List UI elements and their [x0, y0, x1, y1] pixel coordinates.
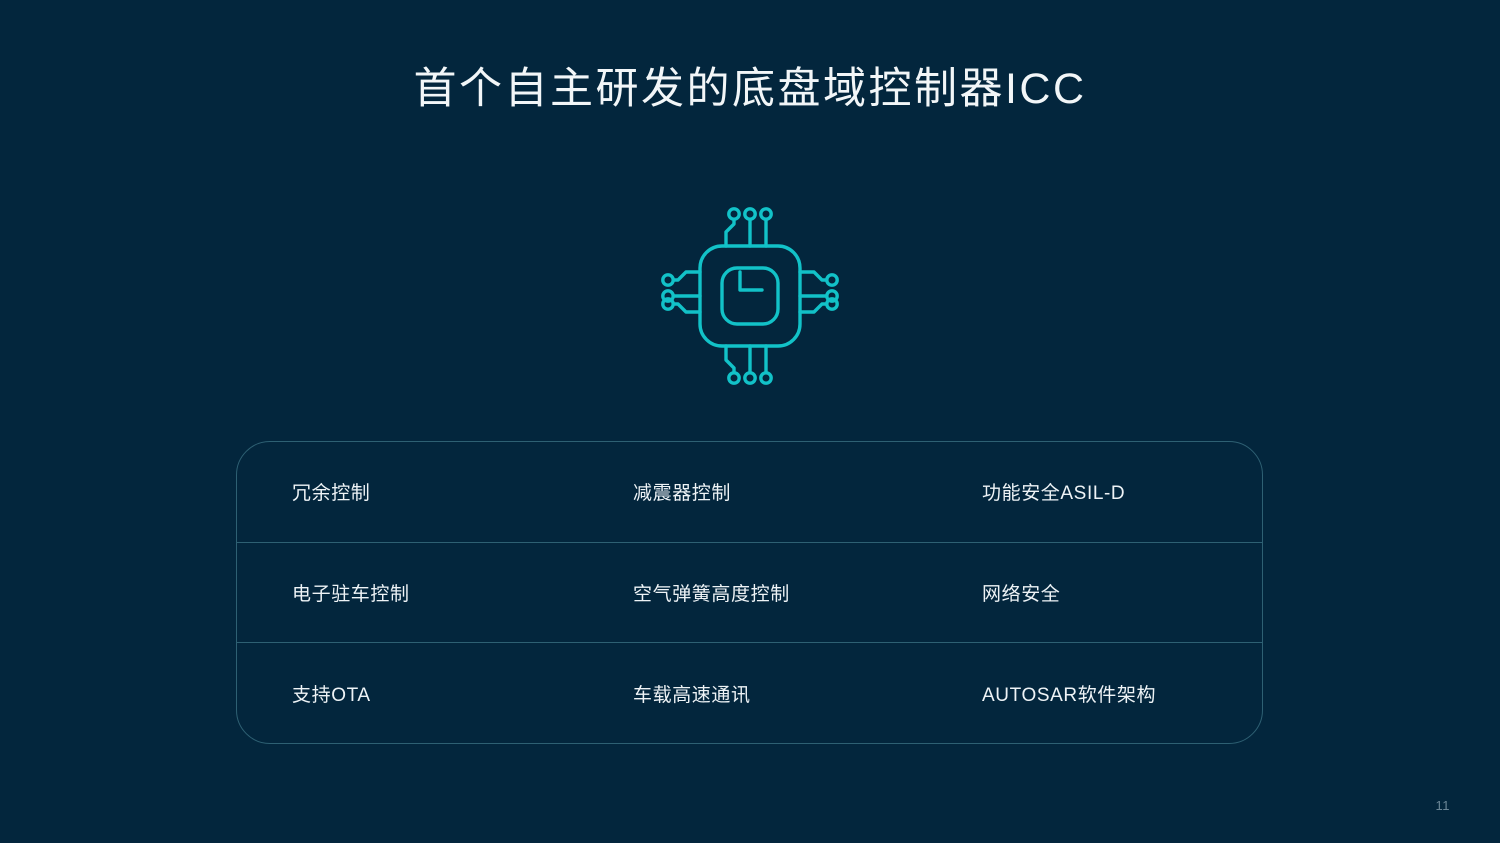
- page-number: 11: [1436, 798, 1451, 813]
- table-row: 电子驻车控制 空气弹簧高度控制 网络安全: [237, 543, 1262, 644]
- chip-icon: [650, 196, 850, 396]
- feature-item: 空气弹簧高度控制: [633, 579, 982, 606]
- feature-card: 冗余控制 减震器控制 功能安全ASIL-D 电子驻车控制 空气弹簧高度控制 网络…: [236, 441, 1263, 744]
- feature-item: 冗余控制: [292, 478, 633, 505]
- feature-item: 网络安全: [982, 579, 1262, 606]
- feature-item: 减震器控制: [633, 478, 982, 505]
- feature-item: 车载高速通讯: [633, 680, 982, 707]
- table-row: 冗余控制 减震器控制 功能安全ASIL-D: [237, 442, 1262, 543]
- slide-root: 首个自主研发的底盘域控制器ICC: [0, 0, 1500, 843]
- feature-item: 功能安全ASIL-D: [982, 478, 1262, 505]
- table-row: 支持OTA 车载高速通讯 AUTOSAR软件架构: [237, 643, 1262, 743]
- feature-item: 支持OTA: [292, 680, 633, 707]
- feature-item: 电子驻车控制: [292, 579, 633, 606]
- feature-item: AUTOSAR软件架构: [982, 680, 1262, 707]
- page-title: 首个自主研发的底盘域控制器ICC: [0, 63, 1500, 117]
